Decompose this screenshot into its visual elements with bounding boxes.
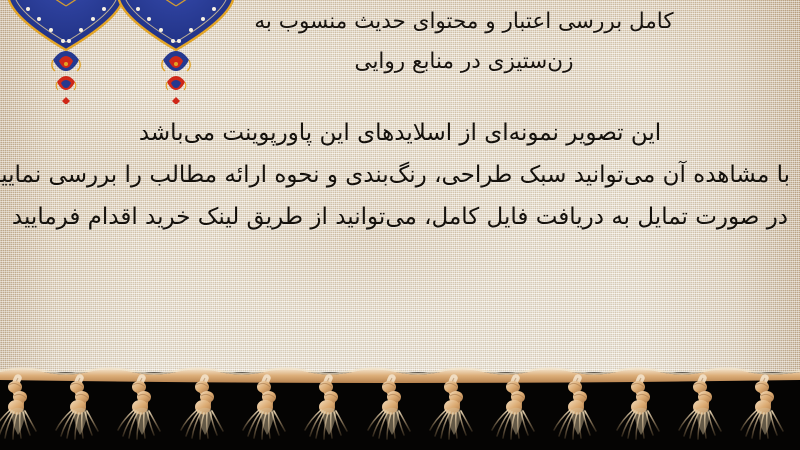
slide-canvas: کامل بررسی اعتبار و محتوای حدیث منسوب به…: [0, 0, 800, 450]
body-line-3: در صورت تمایل به دریافت فایل کامل، می‌تو…: [10, 196, 790, 238]
body-line-2: با مشاهده آن می‌توانید سبک طراحی، رنگ‌بن…: [10, 154, 790, 196]
knotted-tassel-fringe-icon: [0, 366, 800, 450]
persian-illumination-ornament-left-icon: [6, 0, 126, 104]
body-line-1: این تصویر نمونه‌ای از اسلایدهای این پاور…: [10, 112, 790, 154]
slide-body: این تصویر نمونه‌ای از اسلایدهای این پاور…: [10, 112, 790, 238]
slide-title: کامل بررسی اعتبار و محتوای حدیث منسوب به…: [144, 2, 784, 82]
